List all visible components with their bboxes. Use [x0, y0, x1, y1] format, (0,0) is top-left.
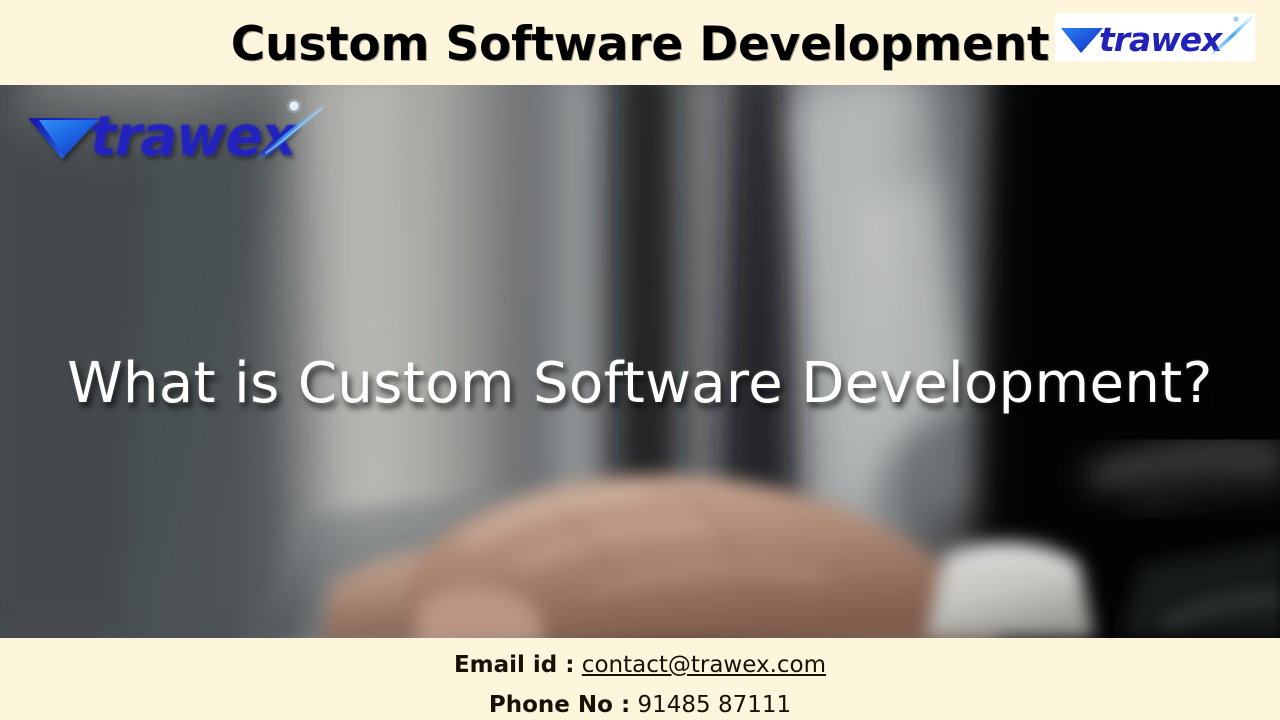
hero-headline: What is Custom Software Development? — [0, 352, 1280, 416]
trawex-logo-watermark: trawex — [22, 95, 332, 175]
email-label: Email id : — [454, 652, 575, 678]
trawex-logo-watermark-glyph: trawex — [22, 95, 332, 175]
footer-contact: Email id : contact@trawex.com Phone No :… — [0, 638, 1280, 720]
hero-photo: trawex What is Custom Software Developme… — [0, 85, 1280, 638]
email-link[interactable]: contact@trawex.com — [582, 652, 826, 678]
trawex-logo-header-glyph: trawex — [1055, 13, 1255, 61]
svg-text:trawex: trawex — [1099, 20, 1224, 59]
footer-phone-line: Phone No : 91485 87111 — [0, 685, 1280, 720]
phone-value: 91485 87111 — [637, 692, 791, 718]
footer-email-line: Email id : contact@trawex.com — [0, 638, 1280, 685]
svg-text:trawex: trawex — [90, 104, 298, 168]
phone-label: Phone No : — [489, 692, 630, 718]
trawex-logo-header[interactable]: trawex — [1055, 13, 1255, 61]
slide-canvas: trawex What is Custom Software Developme… — [0, 0, 1280, 720]
